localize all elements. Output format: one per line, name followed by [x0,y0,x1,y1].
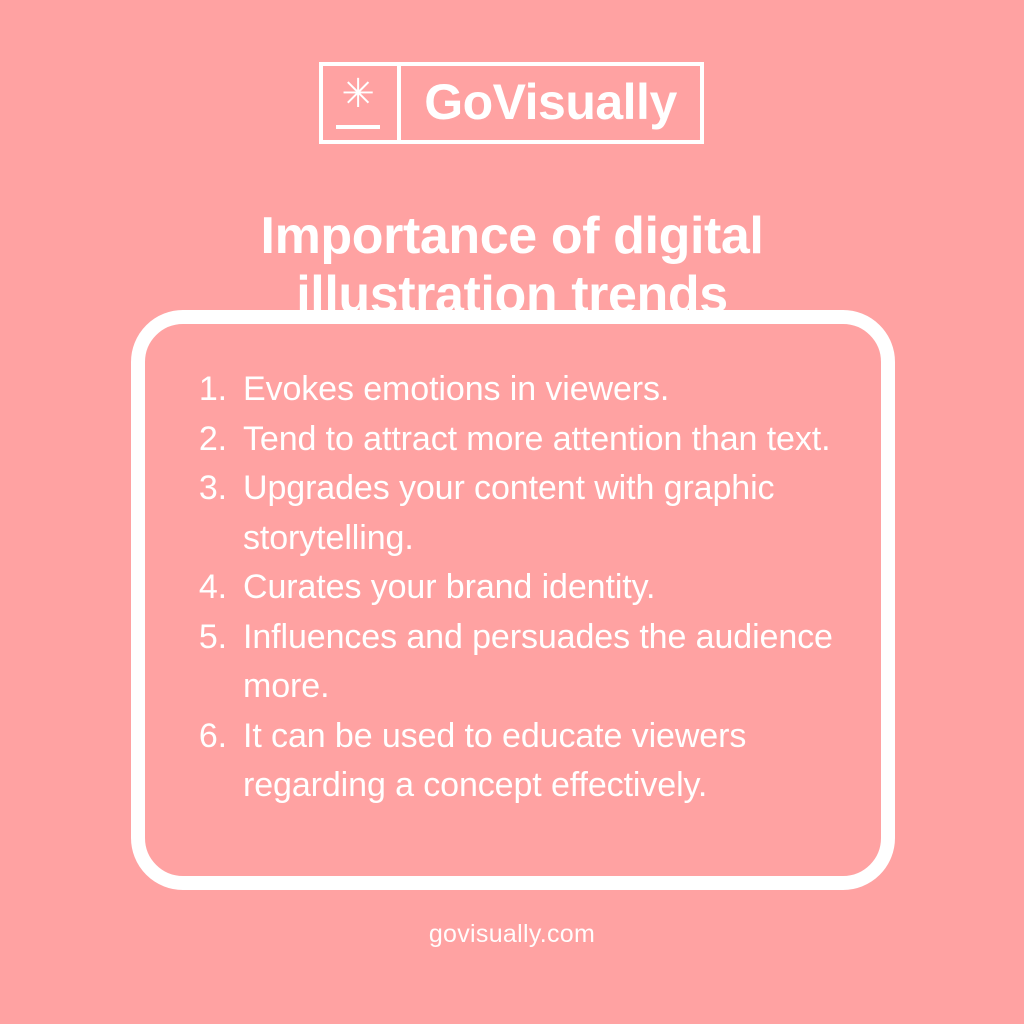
logo-mark-box: ✳ [323,66,401,140]
list-item-number: 5. [179,613,227,663]
list-item-number: 1. [179,365,227,415]
list-item-number: 6. [179,712,227,762]
list-item: 6. It can be used to educate viewers reg… [179,712,851,811]
list-item-text: Upgrades your content with graphic story… [243,469,774,557]
benefits-list: 1. Evokes emotions in viewers. 2. Tend t… [145,324,881,811]
list-item-text: Curates your brand identity. [243,568,655,606]
list-item-text: Tend to attract more attention than text… [243,420,830,458]
list-item-number: 3. [179,464,227,514]
list-item-number: 2. [179,415,227,465]
list-item-text: It can be used to educate viewers regard… [243,717,746,805]
underline-icon [336,125,380,129]
list-item: 4. Curates your brand identity. [179,563,851,613]
content-card: 1. Evokes emotions in viewers. 2. Tend t… [131,310,895,890]
page-title: Importance of digital illustration trend… [0,207,1024,325]
page-title-line-1: Importance of digital [110,207,914,266]
website-url[interactable]: govisually.com [0,920,1024,949]
brand-name: GoVisually [401,66,700,140]
brand-logo[interactable]: ✳ GoVisually [319,62,704,144]
list-item-text: Influences and persuades the audience mo… [243,618,833,706]
list-item: 2. Tend to attract more attention than t… [179,415,851,465]
list-item: 5. Influences and persuades the audience… [179,613,851,712]
list-item-number: 4. [179,563,227,613]
asterisk-icon: ✳ [323,74,393,114]
list-item: 3. Upgrades your content with graphic st… [179,464,851,563]
list-item: 1. Evokes emotions in viewers. [179,365,851,415]
poster-canvas: ✳ GoVisually Importance of digital illus… [0,0,1024,1024]
list-item-text: Evokes emotions in viewers. [243,370,669,408]
